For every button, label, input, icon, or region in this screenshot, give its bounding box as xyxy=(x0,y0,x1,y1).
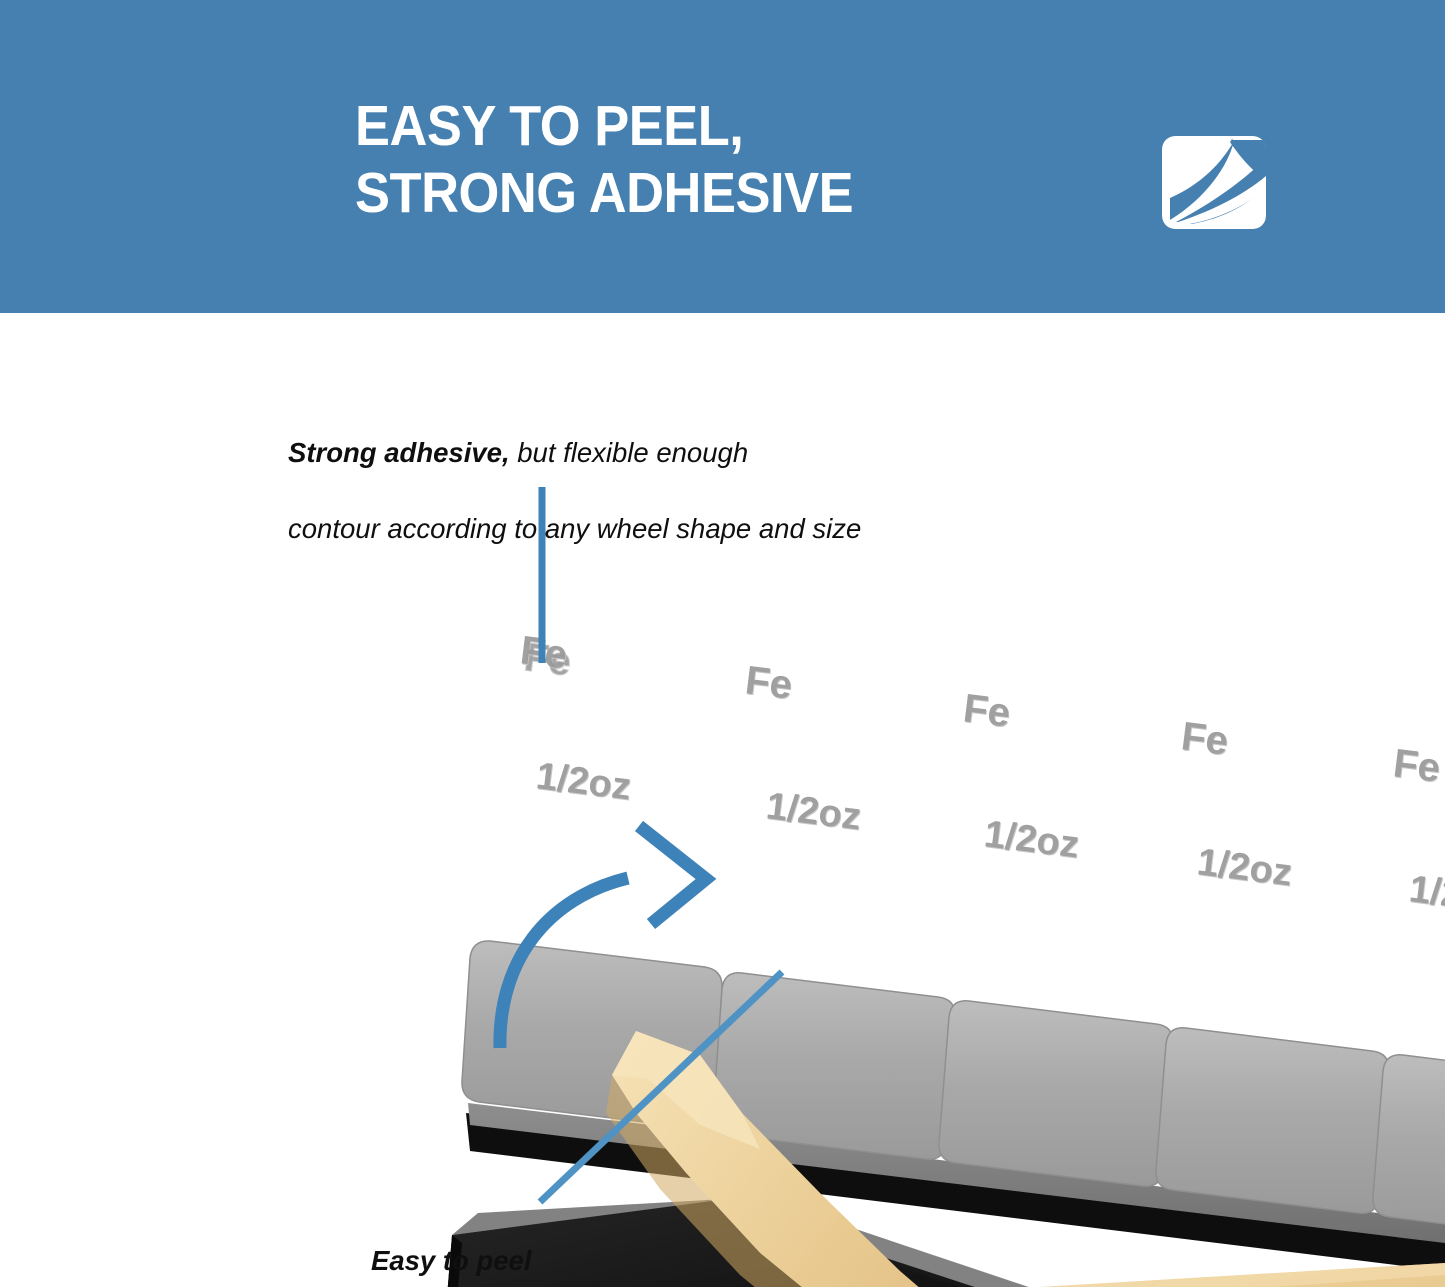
callout-strong-adhesive-rest: but flexible enough xyxy=(510,437,749,468)
callout-easy-to-peel-lead: Easy to peel xyxy=(371,1245,532,1276)
brand-swoosh-logo xyxy=(1162,136,1266,229)
svg-text:1/2oz: 1/2oz xyxy=(534,755,633,808)
header-banner: EASY TO PEEL, STRONG ADHESIVE xyxy=(0,0,1445,313)
svg-text:1/2oz: 1/2oz xyxy=(764,785,863,838)
svg-text:1/2: 1/2 xyxy=(1407,868,1445,916)
callout-strong-adhesive-line1: Strong adhesive, but flexible enough xyxy=(288,434,1048,472)
callout-easy-to-peel: Easy to peel For somooth application xyxy=(371,1204,931,1287)
callout-easy-to-peel-line1: Easy to peel xyxy=(371,1242,931,1280)
page-title: EASY TO PEEL, STRONG ADHESIVE xyxy=(355,93,853,226)
callout-strong-adhesive-lead: Strong adhesive, xyxy=(288,437,510,468)
infographic-page: EASY TO PEEL, STRONG ADHESIVE xyxy=(0,0,1445,1287)
svg-text:Fe: Fe xyxy=(1391,741,1443,790)
svg-text:Fe: Fe xyxy=(743,658,795,707)
svg-text:1/2oz: 1/2oz xyxy=(982,813,1081,866)
svg-text:Fe: Fe xyxy=(961,686,1013,735)
svg-text:1/2oz: 1/2oz xyxy=(1195,841,1294,894)
callout-strong-adhesive: Strong adhesive, but flexible enough con… xyxy=(288,396,1048,586)
callout-strong-adhesive-line2: contour according to any wheel shape and… xyxy=(288,510,1048,548)
svg-text:Fe: Fe xyxy=(1179,714,1231,763)
svg-text:Fe: Fe xyxy=(518,628,570,677)
